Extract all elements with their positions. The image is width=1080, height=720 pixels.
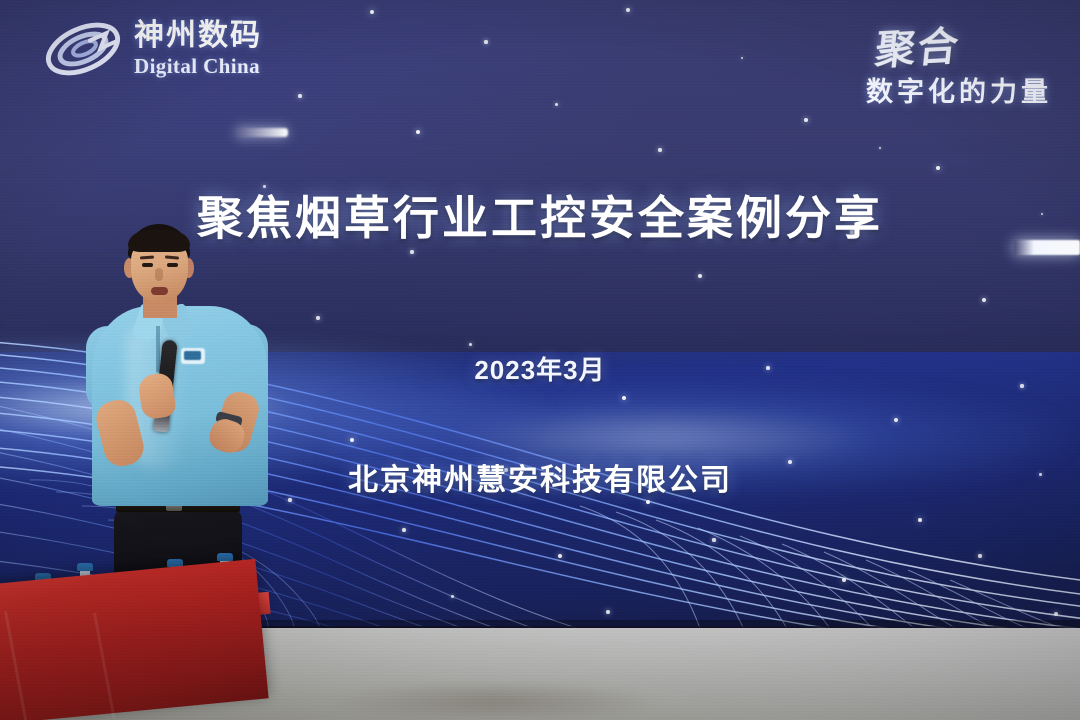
red-table-drape <box>0 559 269 720</box>
screenshot-stage: 神州数码 Digital China 聚合 数字化的力量 聚焦烟草行业工控安全案… <box>0 0 1080 720</box>
spiral-swirl-icon <box>42 18 124 80</box>
speaker-chest-logo <box>181 348 205 364</box>
logo-name-cn: 神州数码 <box>134 21 262 51</box>
event-logo: 聚合 数字化的力量 <box>866 16 1052 109</box>
stage-light-strip-top <box>236 128 288 137</box>
floor-smudge <box>330 680 660 716</box>
event-calligraphy: 聚合 <box>873 14 964 76</box>
event-tagline: 数字化的力量 <box>866 70 1052 109</box>
digital-china-logo: 神州数码 Digital China <box>42 18 262 80</box>
speaker-nose <box>155 268 163 281</box>
logo-name-en: Digital China <box>134 56 262 77</box>
speaker-eye-right <box>167 263 178 267</box>
speaker-hair-front <box>128 230 190 252</box>
speaker-mouth <box>151 287 168 295</box>
speaker-eye-left <box>142 263 153 267</box>
